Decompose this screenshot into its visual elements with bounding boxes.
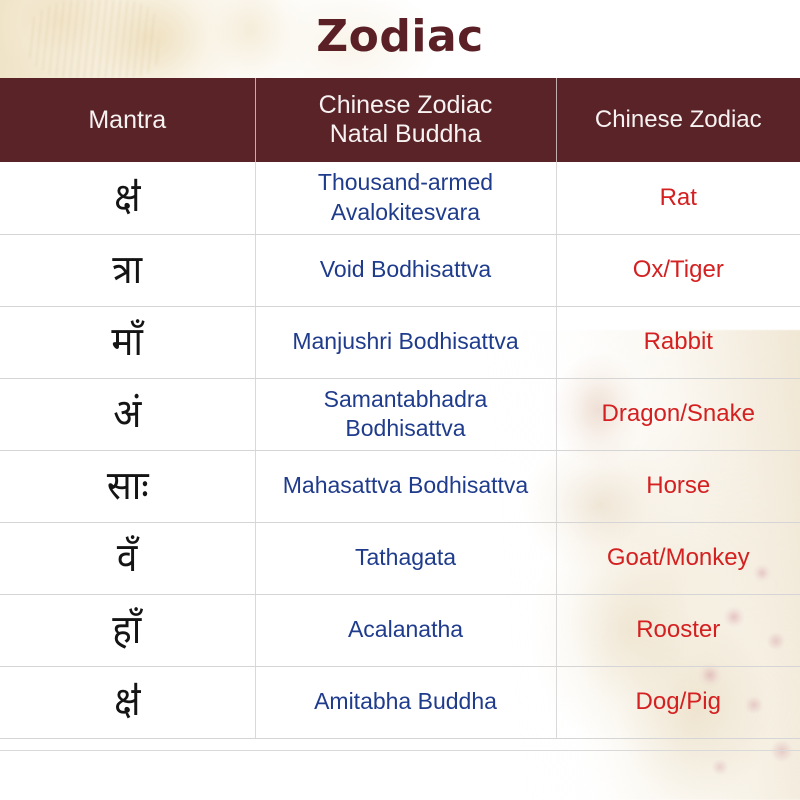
table-header-row: Mantra Chinese Zodiac Natal Buddha Chine…: [0, 78, 800, 162]
natal-buddha-line1: Thousand-armed: [318, 169, 493, 195]
natal-buddha-cell: Tathagata: [255, 522, 556, 594]
mantra-cell: वँ: [0, 522, 255, 594]
natal-buddha-line2: Avalokitesvara: [331, 199, 480, 225]
siddham-seed-syllable-hrih-icon: क्षऺ: [114, 178, 140, 218]
table-header: Mantra Chinese Zodiac Natal Buddha Chine…: [0, 78, 800, 162]
zodiac-table: Mantra Chinese Zodiac Natal Buddha Chine…: [0, 78, 800, 739]
natal-buddha-cell: Manjushri Bodhisattva: [255, 306, 556, 378]
mantra-cell: अं: [0, 378, 255, 450]
column-header-natal-buddha: Chinese Zodiac Natal Buddha: [255, 78, 556, 162]
table-row: क्षऺThousand-armedAvalokitesvaraRat: [0, 162, 800, 234]
natal-buddha-cell: Amitabha Buddha: [255, 666, 556, 738]
natal-buddha-cell: Thousand-armedAvalokitesvara: [255, 162, 556, 234]
table-row: त्राVoid BodhisattvaOx/Tiger: [0, 234, 800, 306]
column-header-natal-buddha-line1: Chinese Zodiac: [319, 91, 493, 119]
siddham-seed-syllable-am-icon: अं: [113, 394, 141, 434]
siddham-seed-syllable-ham-icon: हाँ: [113, 610, 142, 650]
zodiac-poster: Zodiac Mantra Chinese Zodiac Natal Buddh…: [0, 0, 800, 800]
table-row: अंSamantabhadraBodhisattvaDragon/Snake: [0, 378, 800, 450]
natal-buddha-cell: Acalanatha: [255, 594, 556, 666]
chinese-zodiac-cell: Horse: [556, 450, 800, 522]
chinese-zodiac-cell: Goat/Monkey: [556, 522, 800, 594]
natal-buddha-line1: Acalanatha: [348, 616, 463, 642]
natal-buddha-line1: Tathagata: [355, 544, 456, 570]
natal-buddha-line1: Samantabhadra: [324, 386, 488, 412]
page-title: Zodiac: [316, 15, 483, 63]
siddham-seed-syllable-tra-icon: त्रा: [112, 250, 142, 290]
natal-buddha-line1: Mahasattva Bodhisattva: [283, 472, 528, 498]
table-bottom-rule: [0, 750, 800, 751]
chinese-zodiac-cell: Rooster: [556, 594, 800, 666]
chinese-zodiac-cell: Dog/Pig: [556, 666, 800, 738]
mantra-cell: क्षऺ: [0, 162, 255, 234]
mantra-cell: साः: [0, 450, 255, 522]
table-row: हाँAcalanathaRooster: [0, 594, 800, 666]
natal-buddha-cell: Void Bodhisattva: [255, 234, 556, 306]
natal-buddha-line1: Manjushri Bodhisattva: [292, 328, 518, 354]
table-row: माँManjushri BodhisattvaRabbit: [0, 306, 800, 378]
chinese-zodiac-cell: Dragon/Snake: [556, 378, 800, 450]
siddham-seed-syllable-man-icon: माँ: [111, 322, 143, 362]
chinese-zodiac-cell: Rabbit: [556, 306, 800, 378]
column-header-chinese-zodiac: Chinese Zodiac: [556, 78, 800, 162]
natal-buddha-cell: Mahasattva Bodhisattva: [255, 450, 556, 522]
column-header-mantra: Mantra: [0, 78, 255, 162]
table-row: वँTathagataGoat/Monkey: [0, 522, 800, 594]
chinese-zodiac-cell: Ox/Tiger: [556, 234, 800, 306]
title-bar: Zodiac: [0, 0, 800, 78]
mantra-cell: माँ: [0, 306, 255, 378]
natal-buddha-line1: Amitabha Buddha: [314, 688, 497, 714]
natal-buddha-cell: SamantabhadraBodhisattva: [255, 378, 556, 450]
column-header-natal-buddha-line2: Natal Buddha: [330, 120, 482, 148]
siddham-seed-syllable-hrih-icon: क्षऺ: [114, 682, 140, 722]
table-body: क्षऺThousand-armedAvalokitesvaraRatत्राV…: [0, 162, 800, 738]
table-row: साःMahasattva BodhisattvaHorse: [0, 450, 800, 522]
chinese-zodiac-cell: Rat: [556, 162, 800, 234]
table-row: क्षऺAmitabha BuddhaDog/Pig: [0, 666, 800, 738]
mantra-cell: त्रा: [0, 234, 255, 306]
siddham-seed-syllable-sah-icon: साः: [106, 466, 148, 506]
natal-buddha-line2: Bodhisattva: [345, 415, 465, 441]
siddham-seed-syllable-vam-icon: वँ: [117, 538, 137, 578]
natal-buddha-line1: Void Bodhisattva: [320, 256, 491, 282]
mantra-cell: हाँ: [0, 594, 255, 666]
mantra-cell: क्षऺ: [0, 666, 255, 738]
